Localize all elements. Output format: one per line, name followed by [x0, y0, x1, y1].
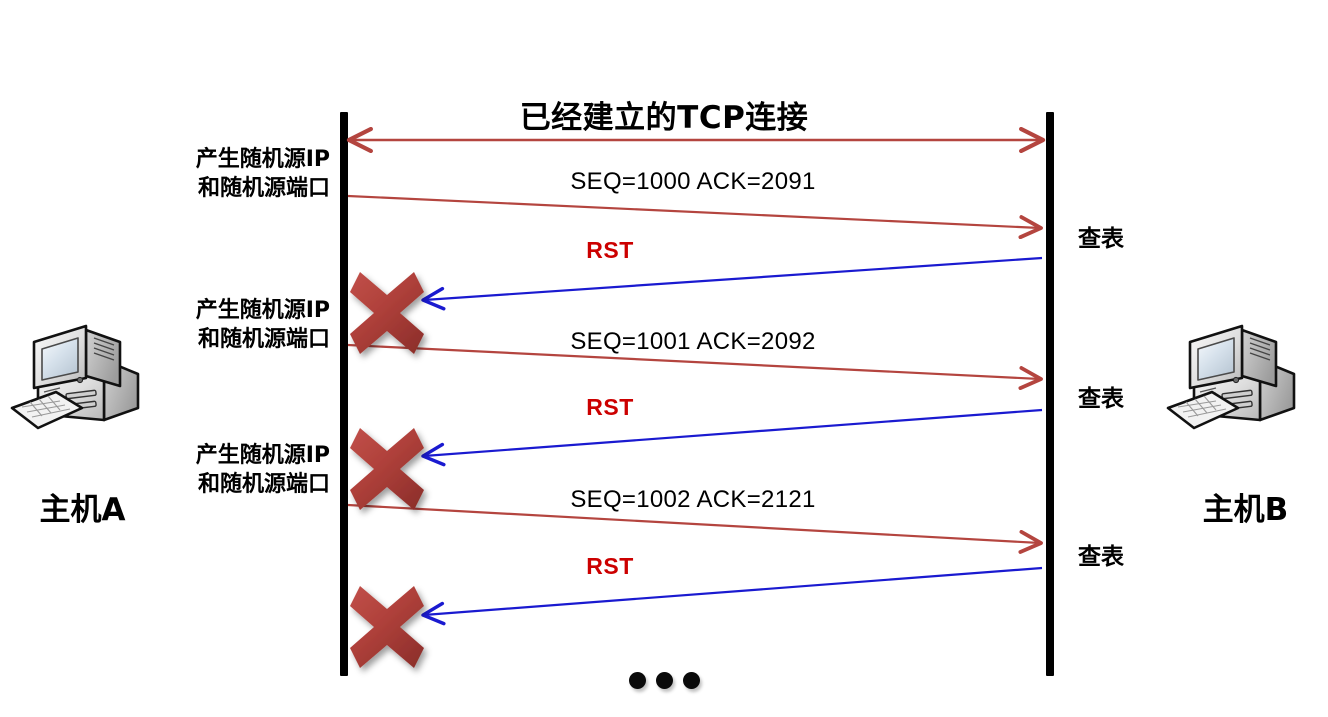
request-arrow-1 — [348, 196, 1040, 228]
host-label-a: 主机A — [0, 484, 165, 529]
host-label-b: 主机B — [1163, 484, 1328, 529]
note-line-1: 产生随机源IP — [60, 145, 330, 174]
red-x-icon-3 — [350, 586, 424, 668]
rst-label-2: RST — [450, 394, 770, 421]
lookup-table-label-3: 查表 — [1078, 537, 1124, 571]
page-title: 已经建立的TCP连接 — [0, 92, 1328, 137]
seq-ack-label-2: SEQ=1001 ACK=2092 — [389, 328, 997, 356]
response-arrow-1 — [424, 258, 1042, 300]
lifeline-host-a — [340, 112, 348, 676]
diagram-canvas: 已经建立的TCP连接 — [0, 0, 1328, 717]
ellipsis-dot — [656, 672, 673, 689]
rst-label-1: RST — [450, 237, 770, 264]
lookup-table-label-1: 查表 — [1078, 219, 1124, 253]
lookup-table-label-2: 查表 — [1078, 379, 1124, 413]
lifeline-host-b — [1046, 112, 1054, 676]
desktop-computer-icon-host-a — [8, 316, 168, 438]
note-line-2: 和随机源端口 — [60, 174, 330, 203]
rst-label-3: RST — [450, 553, 770, 580]
note-line-1: 产生随机源IP — [60, 441, 330, 470]
desktop-computer-icon-host-b — [1164, 316, 1324, 438]
continuation-ellipsis — [0, 672, 1328, 690]
seq-ack-label-1: SEQ=1000 ACK=2091 — [389, 168, 997, 196]
seq-ack-label-3: SEQ=1002 ACK=2121 — [389, 486, 997, 514]
note-random-source-1: 产生随机源IP 和随机源端口 — [60, 145, 330, 203]
ellipsis-dot — [683, 672, 700, 689]
ellipsis-dot — [629, 672, 646, 689]
